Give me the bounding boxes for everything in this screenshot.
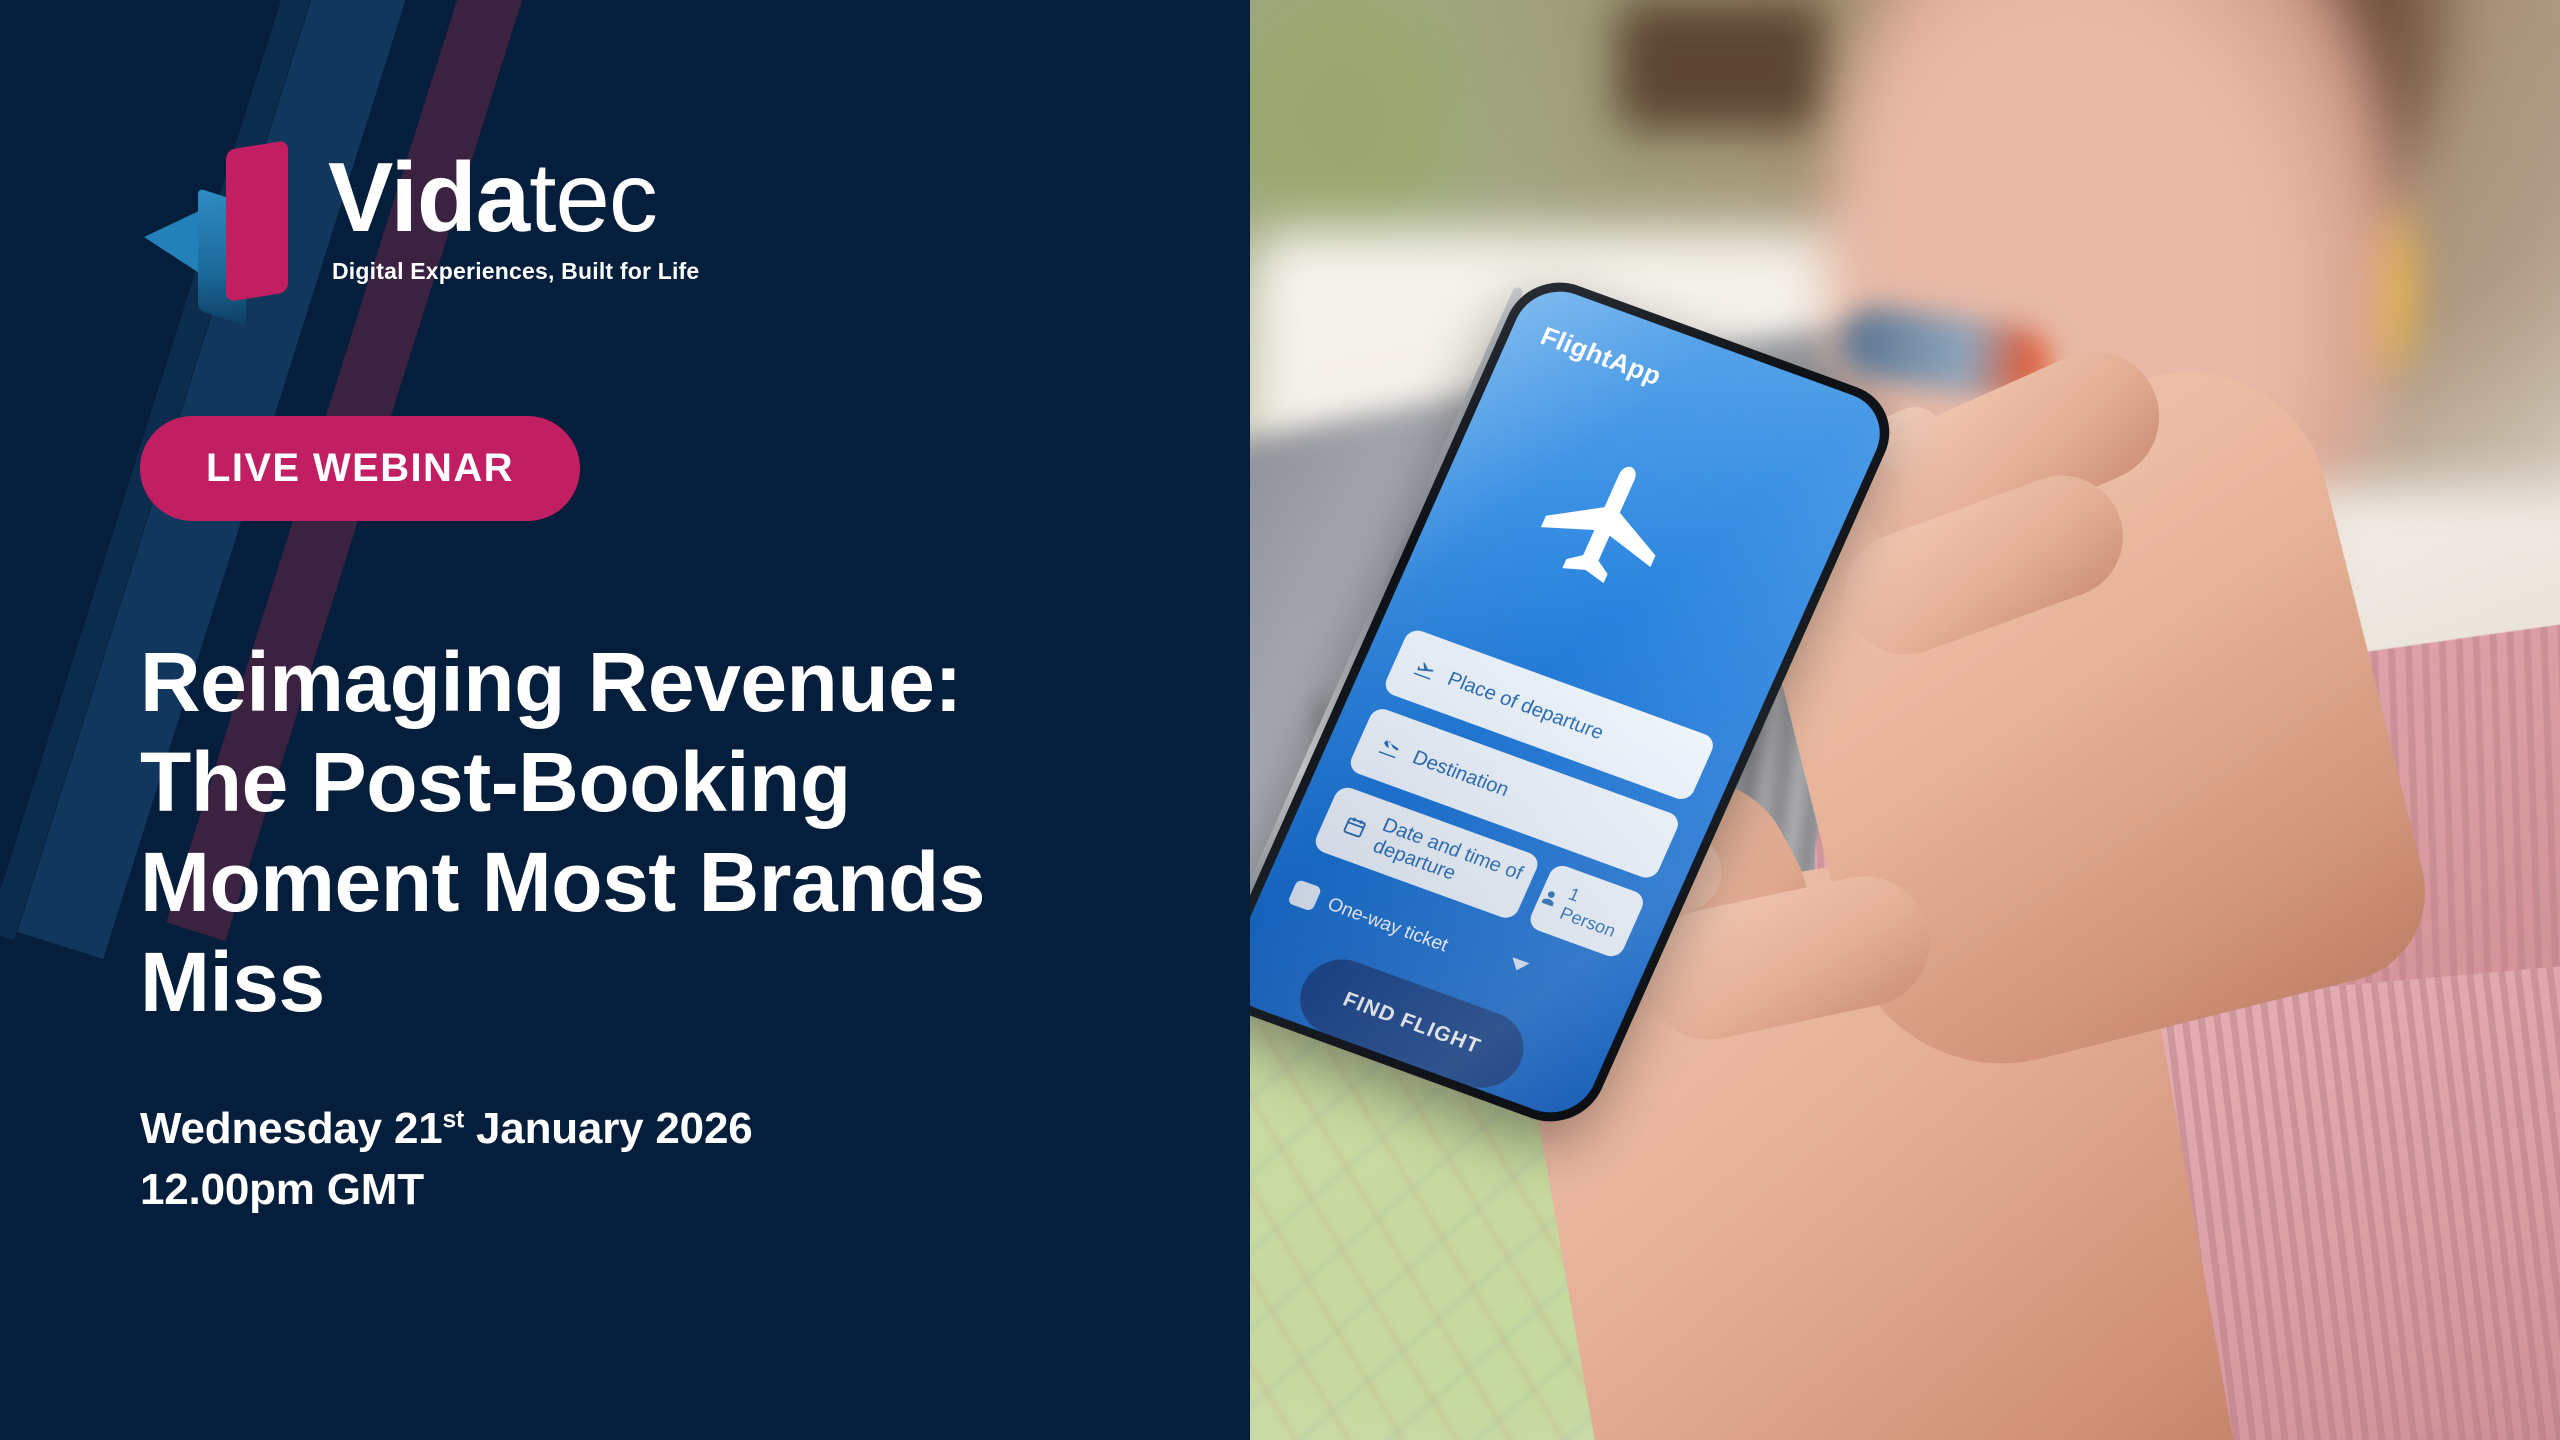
page-title: Reimaging Revenue: The Post-Booking Mome… [140,633,1120,1033]
one-way-ticket-label: One-way ticket [1324,894,1451,957]
hero-photo: FlightApp Place of departure [1250,0,2560,1440]
place-of-departure-label: Place of departure [1444,668,1607,745]
airplane-icon [1508,428,1710,616]
event-datetime: Wednesday 21st January 2026 12.00pm GMT [140,1099,1250,1220]
brand-name-bold: Vida [328,142,529,252]
photo-dark-object-blur [1617,0,1827,130]
event-date-suffix: January 2026 [464,1104,753,1153]
passenger-count-label: 1 Person [1556,884,1641,947]
event-date-ordinal: st [443,1106,465,1133]
brand-name: Vidatec [328,148,699,246]
checkbox-icon[interactable] [1287,879,1322,912]
brand-name-light: tec [529,142,657,252]
event-date: Wednesday 21st January 2026 [140,1099,1250,1160]
event-date-prefix: Wednesday 21 [140,1104,443,1153]
logo-magenta-bar-icon [226,140,288,302]
headline-line-4: Miss [140,933,1120,1033]
calendar-icon [1336,812,1373,842]
passenger-count-selector[interactable]: 1 Person [1526,863,1647,961]
event-time: 12.00pm GMT [140,1160,1250,1221]
webinar-promo-banner: Vidatec Digital Experiences, Built for L… [0,0,2560,1440]
left-panel-content: Vidatec Digital Experiences, Built for L… [0,0,1250,1220]
destination-label: Destination [1409,747,1513,802]
left-info-panel: Vidatec Digital Experiences, Built for L… [0,0,1250,1440]
plane-takeoff-icon [1406,655,1443,685]
headline-line-3: Moment Most Brands [140,833,1120,933]
vidatec-logo-mark-icon [140,140,310,320]
person-icon [1536,885,1563,910]
vidatec-wordmark: Vidatec Digital Experiences, Built for L… [310,140,699,285]
brand-tagline: Digital Experiences, Built for Life [332,258,699,285]
app-title: FlightApp [1536,321,1666,392]
headline-line-1: Reimaging Revenue: [140,633,1120,733]
live-webinar-badge[interactable]: LIVE WEBINAR [140,416,580,521]
plane-landing-icon [1371,733,1408,763]
vidatec-logo[interactable]: Vidatec Digital Experiences, Built for L… [140,0,1250,320]
headline-line-2: The Post-Booking [140,733,1120,833]
